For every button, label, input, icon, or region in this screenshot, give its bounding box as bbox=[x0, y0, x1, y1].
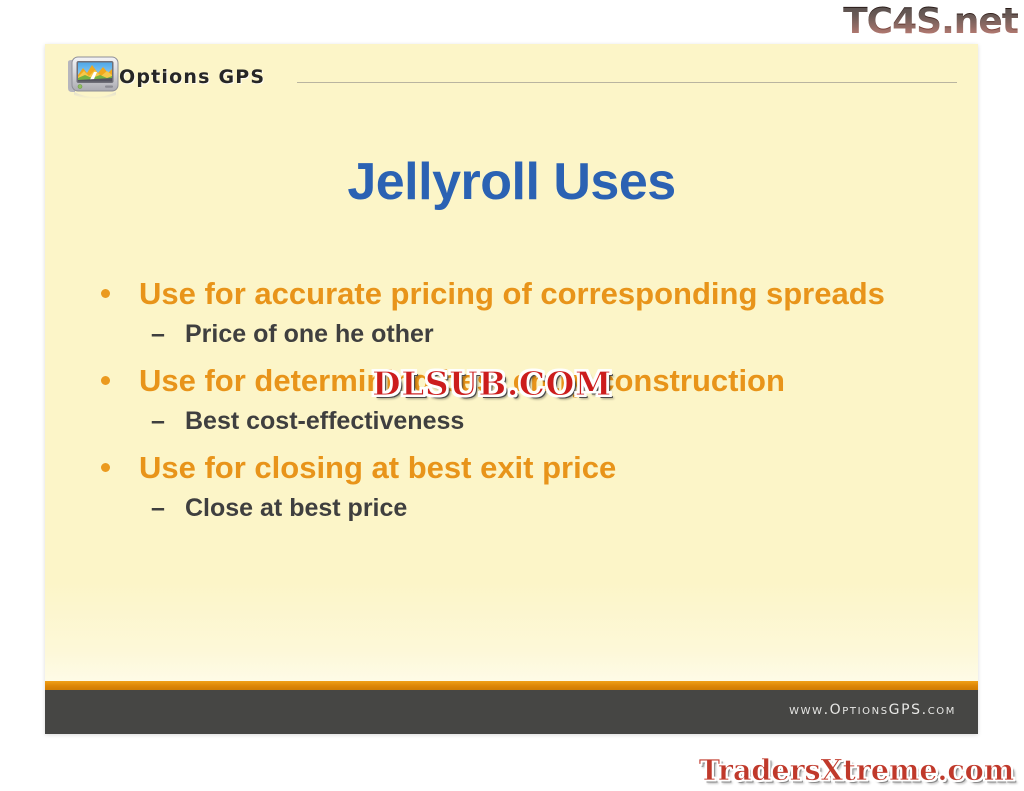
footer-accent-bar bbox=[45, 681, 978, 690]
header-divider-rule bbox=[297, 82, 957, 83]
bullet-dash-icon: – bbox=[151, 404, 165, 438]
slide-page: TC4S.net bbox=[0, 0, 1024, 791]
tradersxtreme-brand-label: TradersXtreme.com bbox=[699, 753, 1014, 787]
bullet-text: Use for accurate pricing of correspondin… bbox=[139, 276, 885, 311]
footer-website-url: www.OptionsGPS.com bbox=[789, 702, 956, 718]
bullet-text: Close at best price bbox=[185, 494, 407, 522]
tc4s-brand-label: TC4S.net bbox=[843, 2, 1018, 42]
dlsub-watermark: DLSUB.COM bbox=[372, 366, 612, 402]
bullet-item-level1: Use for accurate pricing of correspondin… bbox=[95, 272, 965, 315]
bullet-dot-icon bbox=[101, 289, 110, 298]
bullet-text: Use for closing at best exit price bbox=[139, 450, 616, 485]
bullet-item-level1: Use for closing at best exit price bbox=[95, 446, 965, 489]
bullet-text: Best cost-effectiveness bbox=[185, 407, 464, 435]
bullet-dot-icon bbox=[101, 463, 110, 472]
slide-footer: www.OptionsGPS.com bbox=[45, 690, 978, 734]
bullet-item-level2: – Best cost-effectiveness bbox=[95, 404, 965, 438]
gps-device-icon bbox=[61, 54, 123, 100]
bullet-item-level2: – Close at best price bbox=[95, 491, 965, 525]
bullet-item-level2: – Price of one he other bbox=[95, 317, 965, 351]
bullet-dash-icon: – bbox=[151, 317, 165, 351]
slide-header: Options GPS bbox=[45, 44, 978, 108]
bullet-text: Price of one he other bbox=[185, 320, 434, 348]
bullet-dot-icon bbox=[101, 376, 110, 385]
page-title: Jellyroll Uses bbox=[45, 151, 978, 213]
options-gps-wordmark: Options GPS bbox=[119, 66, 265, 88]
bullet-dash-icon: – bbox=[151, 491, 165, 525]
